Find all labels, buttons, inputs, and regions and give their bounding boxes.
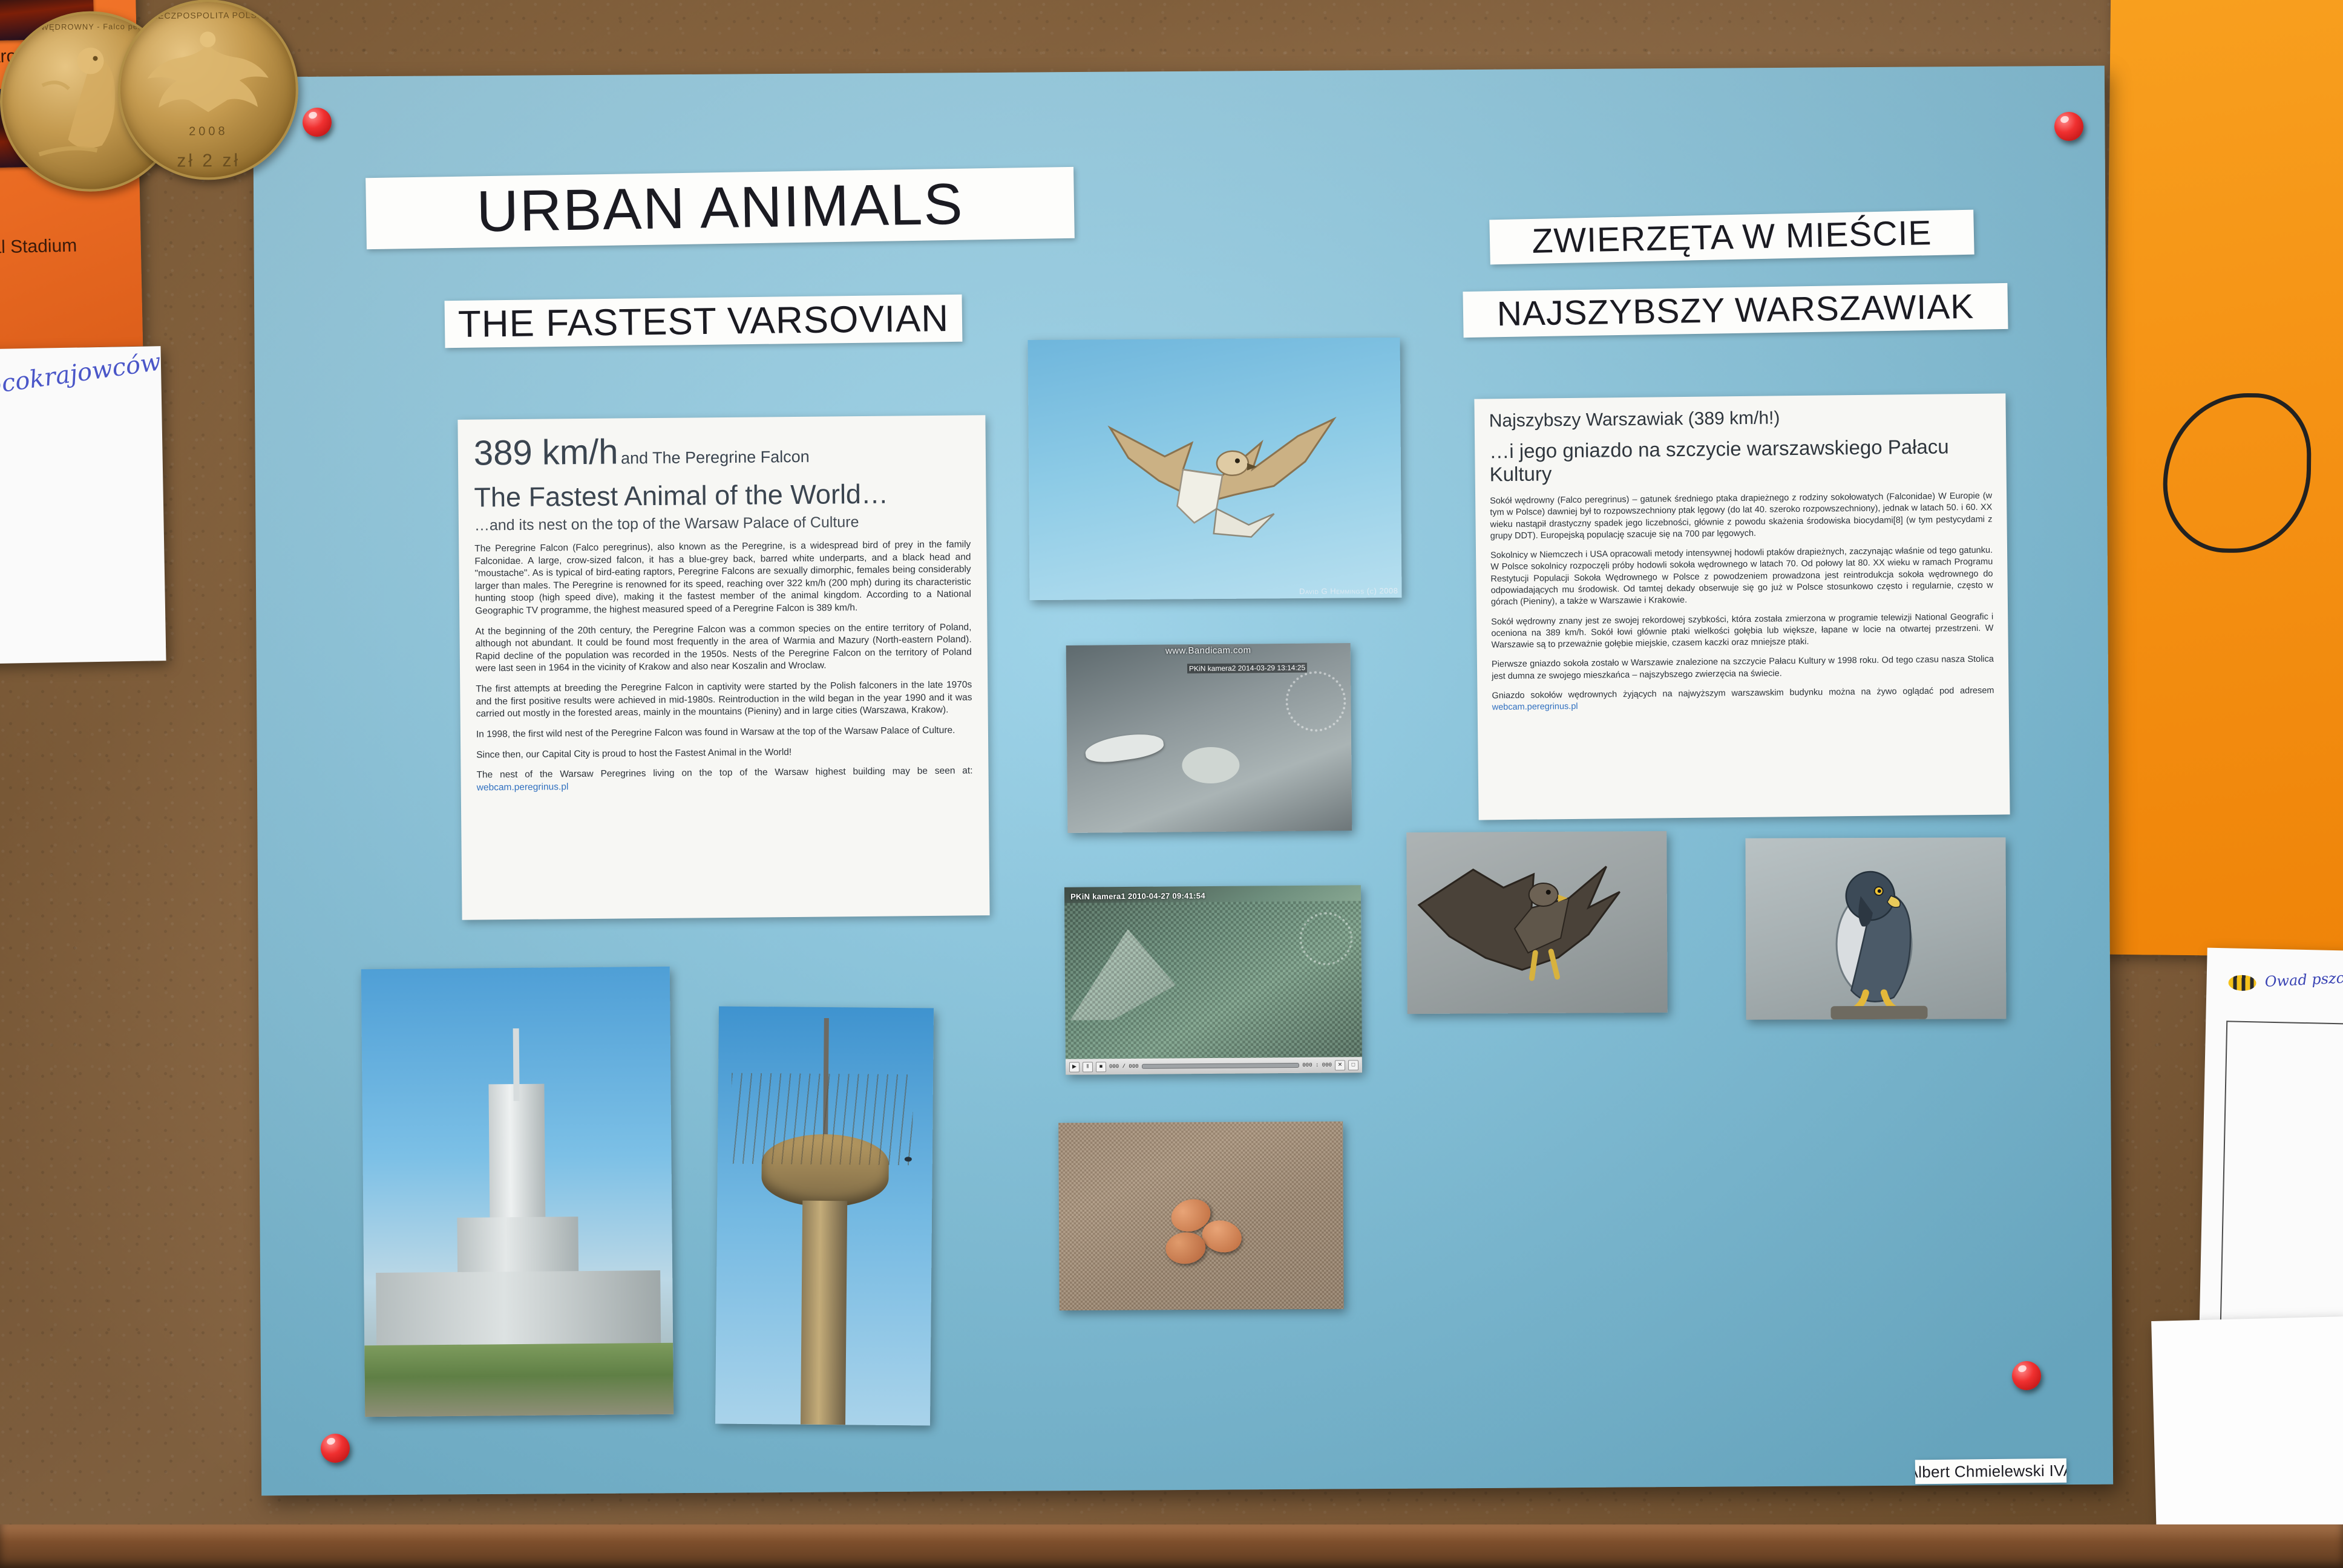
photo-falcon-perched[interactable] <box>1745 837 2006 1019</box>
play-button[interactable]: ▶ <box>1069 1062 1080 1072</box>
emblem-icon <box>1299 912 1353 965</box>
webcam-link[interactable]: webcam.peregrinus.pl <box>1492 702 1578 712</box>
nest-bird-shape-2 <box>1182 747 1240 784</box>
photo-webcam-still-1[interactable]: www.Bandicam.com PKiN kamera2 2014-03-29… <box>1066 643 1352 833</box>
stop-button[interactable]: ■ <box>1096 1062 1106 1072</box>
paragraph: At the beginning of the 20th century, th… <box>475 621 972 676</box>
white-note-left[interactable]: obcokrajowców <box>0 346 166 664</box>
antenna-array <box>731 1073 913 1166</box>
video-player-bar[interactable]: ▶ ‖ ■ 000 / 000 000 : 000 ✕ □ <box>1066 1057 1362 1074</box>
author-signature: Albert Chmielewski IVA <box>1915 1459 2066 1485</box>
emblem-icon <box>1285 671 1346 732</box>
photo-watermark: David G Hemmings (c) 2008 <box>1299 586 1398 596</box>
distant-bird-icon <box>905 1157 912 1161</box>
speed-value: 389 km/h <box>474 433 618 473</box>
falcon-perched-icon <box>1745 837 2006 1019</box>
palace-spire <box>513 1028 520 1101</box>
english-headline: The Fastest Animal of the World… <box>474 477 970 513</box>
photo-commemorative-coin[interactable]: SOKÓŁ WĘDROWNY - Falco peregrinus RZECZP… <box>0 0 291 201</box>
paragraph: Sokół wędrowny (Falco peregrinus) – gatu… <box>1490 491 1993 543</box>
doodle-shape-icon <box>2163 393 2312 554</box>
paragraph-with-link: Gniazdo sokołów wędrownych żyjących na n… <box>1492 685 1994 714</box>
total-time: 000 : 000 <box>1302 1062 1332 1068</box>
speed-caption: and The Peregrine Falcon <box>621 448 810 468</box>
orange-poster-right[interactable] <box>2101 0 2343 957</box>
bandicam-watermark: www.Bandicam.com <box>1066 644 1351 657</box>
photo-webcam-still-2[interactable]: PKiN kamera1 2010-04-27 09:41:54 ▶ ‖ ■ 0… <box>1064 885 1362 1074</box>
pushpin-bottom-left[interactable] <box>321 1434 350 1463</box>
maximize-icon[interactable]: □ <box>1348 1060 1358 1070</box>
paragraph: Sokół wędrowny znany jest ze swojej reko… <box>1491 611 1994 652</box>
photo-falcon-landing[interactable] <box>1406 831 1668 1014</box>
handwritten-note-right: Owad pszczoła <box>2264 968 2343 990</box>
stadium-caption-2: nal Stadium <box>0 235 77 258</box>
foreground-park <box>364 1343 673 1417</box>
photo-falcon-eggs[interactable] <box>1058 1122 1344 1310</box>
nest-bird-shape <box>1084 730 1165 766</box>
pushpin-bottom-right[interactable] <box>2012 1361 2041 1390</box>
pushpin-top-left[interactable] <box>303 108 332 137</box>
paragraph: Sokolnicy w Niemczech i USA opracowali m… <box>1490 545 1993 609</box>
elapsed-time: 000 / 000 <box>1109 1063 1139 1070</box>
pushpin-top-right[interactable] <box>2054 112 2083 141</box>
photo-falcon-in-flight[interactable]: David G Hemmings (c) 2008 <box>1028 338 1402 600</box>
drawing-frame <box>2219 1021 2343 1365</box>
coin-reverse: RZECZPOSPOLITA POLSKA 2008 zł 2 zł <box>117 0 299 180</box>
tower-shaft <box>800 1201 847 1425</box>
coin-denomination: zł 2 zł <box>121 150 297 172</box>
handwritten-note-left: obcokrajowców <box>0 348 163 402</box>
polish-text-panel: Najszybszy Warszawiak (389 km/h!) …i jeg… <box>1474 393 2010 820</box>
paragraph-text: The nest of the Warsaw Peregrines living… <box>476 766 972 780</box>
english-text-panel: 389 km/h and The Peregrine Falcon The Fa… <box>457 415 989 920</box>
coin-year: 2008 <box>120 124 296 139</box>
bee-icon <box>2228 975 2256 991</box>
seek-slider[interactable] <box>1142 1063 1300 1069</box>
photo-tv-tower[interactable] <box>715 1006 934 1425</box>
webcam-timestamp-overlay: PKiN kamera1 2010-04-27 09:41:54 <box>1070 891 1205 901</box>
paragraph: Pierwsze gniazdo sokoła zostało w Warsza… <box>1492 654 1994 682</box>
polish-subheadline: …i jego gniazdo na szczycie warszawskieg… <box>1489 435 1992 486</box>
poster-subtitle-en: THE FASTEST VARSOVIAN <box>445 295 963 348</box>
photo-palace-of-culture[interactable] <box>361 967 673 1417</box>
webcam-link[interactable]: webcam.peregrinus.pl <box>477 782 569 792</box>
wooden-ledge <box>0 1524 2343 1568</box>
paragraph: In 1998, the first wild nest of the Pere… <box>476 724 972 741</box>
poster-title-en: URBAN ANIMALS <box>365 167 1075 249</box>
pause-button[interactable]: ‖ <box>1083 1062 1093 1072</box>
paragraph: The Peregrine Falcon (Falco peregrinus),… <box>474 538 971 618</box>
english-subheadline: …and its nest on the top of the Warsaw P… <box>474 512 971 534</box>
poster-subtitle-pl: NAJSZYBSZY WARSZAWIAK <box>1463 283 2008 338</box>
falcon-icon <box>1092 384 1353 543</box>
paragraph: The first attempts at breeding the Pereg… <box>476 679 972 721</box>
palace-base <box>376 1270 661 1345</box>
polish-headline: Najszybszy Warszawiak (389 km/h!) <box>1489 406 1991 432</box>
falcon-landing-icon <box>1406 831 1668 1014</box>
close-icon[interactable]: ✕ <box>1335 1060 1345 1070</box>
paragraph-text: Gniazdo sokołów wędrownych żyjących na n… <box>1492 686 1994 701</box>
paragraph: Since then, our Capital City is proud to… <box>476 745 972 762</box>
paragraph-with-link: The nest of the Warsaw Peregrines living… <box>476 765 972 794</box>
webcam-timestamp-overlay: PKiN kamera2 2014-03-29 13:14:25 <box>1187 663 1307 674</box>
